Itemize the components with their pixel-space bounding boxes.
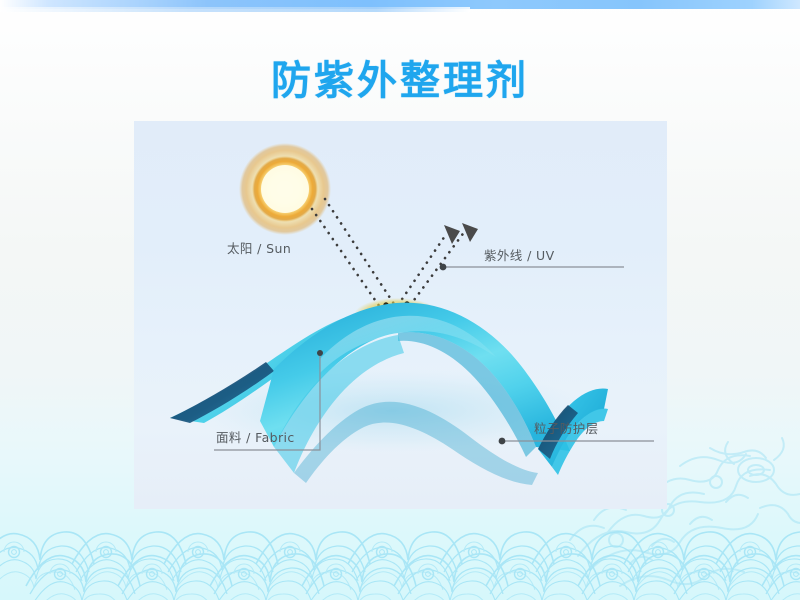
label-particle-layer: 粒子防护层	[534, 418, 599, 437]
uv-protection-diagram	[134, 121, 667, 509]
reflected-ray-arrowheads	[444, 223, 478, 244]
diagram-panel: 太阳 / Sun 紫外线 / UV 面料 / Fabric 粒子防护层	[134, 121, 667, 509]
page-title: 防紫外整理剂	[0, 48, 800, 106]
slide-canvas: 防紫外整理剂	[0, 0, 800, 600]
incoming-ray-lines	[312, 199, 396, 313]
label-sun: 太阳 / Sun	[227, 238, 291, 257]
top-accent-bar-secondary	[0, 7, 470, 12]
sun-icon	[239, 143, 331, 235]
particle-leader-dot	[499, 438, 506, 445]
uv-leader-dot	[440, 264, 447, 271]
label-uv: 紫外线 / UV	[484, 245, 555, 264]
label-fabric: 面料 / Fabric	[216, 427, 295, 446]
fabric-leader-dot	[317, 350, 323, 356]
